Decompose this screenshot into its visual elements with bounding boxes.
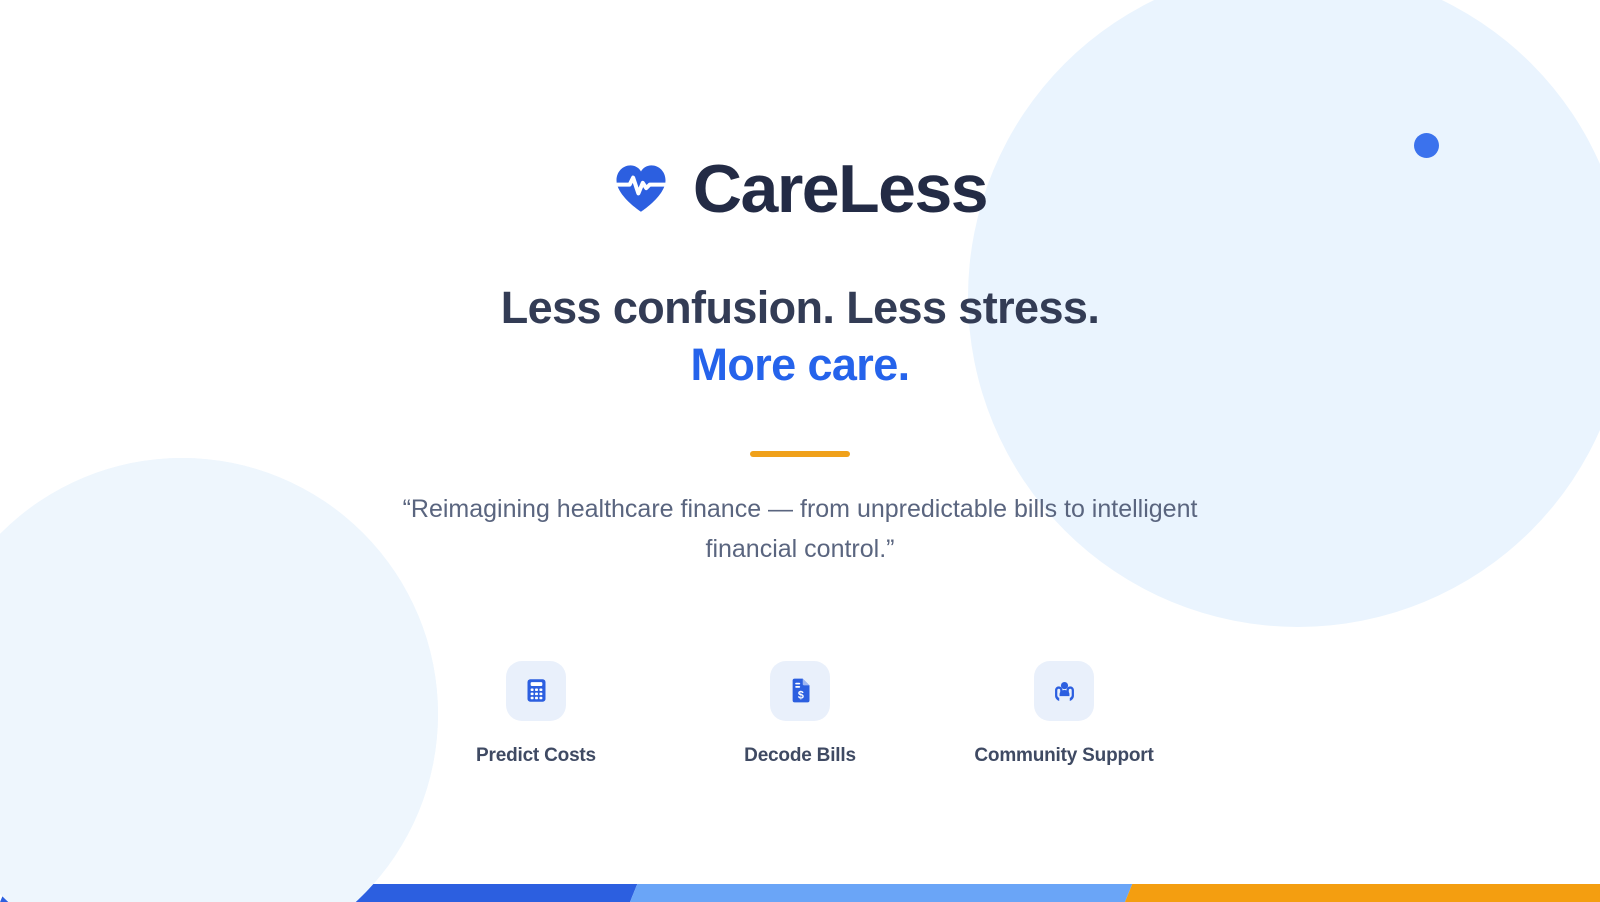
feature-list: Predict Costs $ Decode Bills <box>461 661 1139 767</box>
feature-label: Predict Costs <box>476 745 596 767</box>
headline-line-1: Less confusion. Less stress. <box>501 282 1099 333</box>
accent-divider <box>750 451 850 457</box>
feature-label: Community Support <box>974 745 1153 767</box>
feature-label: Decode Bills <box>744 745 856 767</box>
tagline-quote: “Reimagining healthcare finance — from u… <box>370 489 1230 570</box>
svg-text:$: $ <box>797 690 803 702</box>
hero-content: CareLess Less confusion. Less stress. Mo… <box>0 0 1600 902</box>
brand-logo: CareLess <box>613 155 987 223</box>
feature-item-community-support[interactable]: Community Support <box>989 661 1139 767</box>
page-title: Less confusion. Less stress. More care. <box>501 280 1099 393</box>
calculator-icon <box>523 677 550 704</box>
feature-item-decode-bills[interactable]: $ Decode Bills <box>725 661 875 767</box>
feature-item-predict-costs[interactable]: Predict Costs <box>461 661 611 767</box>
invoice-dollar-icon: $ <box>787 677 814 704</box>
feature-icon-tile <box>1034 661 1094 721</box>
heart-pulse-icon <box>613 161 669 217</box>
brand-name: CareLess <box>693 155 987 223</box>
hands-holding-user-icon <box>1051 677 1078 704</box>
feature-icon-tile <box>506 661 566 721</box>
page-root: CareLess Less confusion. Less stress. Mo… <box>0 0 1600 902</box>
feature-icon-tile: $ <box>770 661 830 721</box>
headline-line-2: More care. <box>501 337 1099 394</box>
